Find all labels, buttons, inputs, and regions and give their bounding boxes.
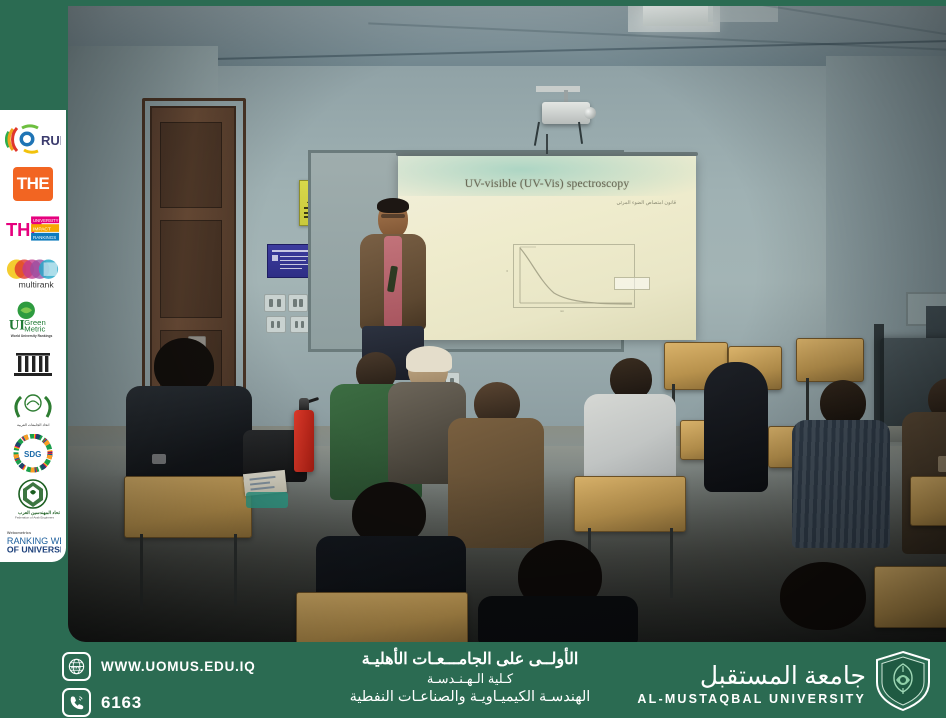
logo-rur-label: RUR xyxy=(41,133,61,148)
jacket-patch xyxy=(938,456,946,472)
logo-sdg: SDG xyxy=(5,433,61,476)
chair xyxy=(296,592,468,642)
student-body xyxy=(704,362,768,492)
student-seated xyxy=(902,394,946,554)
student-body xyxy=(478,596,638,642)
power-outlet xyxy=(288,294,308,312)
logo-the-impact: THE UNIVERSITY IMPACT RANKINGS xyxy=(5,208,61,251)
power-outlet xyxy=(264,294,286,312)
fire-extinguisher xyxy=(294,410,314,472)
university-text: جامعة المستقبل AL-MUSTAQBAL UNIVERSITY xyxy=(637,662,866,706)
projection-glow xyxy=(398,156,696,196)
logo-multirank: multirank xyxy=(5,253,61,296)
teal-box xyxy=(246,492,288,508)
headwear xyxy=(406,346,452,372)
slide-chart-ylabel: A xyxy=(505,270,509,272)
projector-lens xyxy=(584,107,596,119)
svg-text:RANKINGS: RANKINGS xyxy=(33,235,56,240)
arabic-line-1: الأولــى على الجامـــعـات الأهليـة xyxy=(300,650,640,670)
logo-unesco xyxy=(5,343,61,386)
logo-webometrics: Webometrics RANKING WEB OF UNIVERSITIES xyxy=(5,522,61,560)
ceiling-light xyxy=(643,6,713,26)
student-seated xyxy=(698,362,774,492)
logo-rur: RUR xyxy=(5,118,61,161)
svg-text:اتحاد الجامعات العربية: اتحاد الجامعات العربية xyxy=(17,422,49,427)
power-outlet xyxy=(290,316,310,333)
arabic-line-2: كـلية الـهـنـدسـة xyxy=(300,670,640,688)
chair-leg xyxy=(670,528,673,598)
svg-text:www: www xyxy=(70,664,82,669)
slide-chart-xlabel: nm xyxy=(560,309,564,313)
chair-leg xyxy=(140,534,143,610)
chair-leg xyxy=(234,534,237,606)
student-shirt xyxy=(792,420,890,548)
globe-www-icon: www xyxy=(62,652,91,681)
jacket-logo xyxy=(152,454,166,464)
student-foreground xyxy=(478,540,638,642)
presenter-hair xyxy=(377,198,409,213)
logo-ui-greenmetric: UI Green Metric World University Ranking… xyxy=(5,298,61,341)
slide-subtitle: قانون امتصاص الضوء المرئي xyxy=(398,200,696,206)
screen-hook xyxy=(546,134,548,154)
svg-text:Webometrics: Webometrics xyxy=(7,531,31,535)
svg-text:World University Rankings: World University Rankings xyxy=(11,334,53,338)
glasses-icon xyxy=(381,214,405,218)
projection-screen: UV-visible (UV-Vis) spectroscopy قانون ا… xyxy=(398,156,696,340)
slide-title: UV-visible (UV-Vis) spectroscopy xyxy=(408,178,686,190)
slide-chart-curve xyxy=(514,245,634,307)
power-outlet xyxy=(266,316,286,333)
projector-mount xyxy=(536,86,580,92)
chair xyxy=(574,476,686,532)
student-seated xyxy=(792,402,890,548)
arabic-slogan-block: الأولــى على الجامـــعـات الأهليـة كـلية… xyxy=(300,650,640,707)
website-label: WWW.UOMUS.EDU.IQ xyxy=(101,659,256,674)
logo-the: THE xyxy=(5,163,61,206)
arabic-line-3: الهندسـة الكيميـاويـة والصناعـات النفطية xyxy=(300,688,640,707)
svg-text:Federation of Arab Engineers: Federation of Arab Engineers xyxy=(15,515,55,519)
phone-icon xyxy=(62,688,91,717)
ranking-logos-panel: RUR THE THE UNIVERSITY IMPACT RANKINGS xyxy=(0,110,66,562)
svg-text:OF UNIVERSITIES: OF UNIVERSITIES xyxy=(7,545,61,555)
university-name-ar: جامعة المستقبل xyxy=(637,662,866,692)
chair xyxy=(874,566,946,628)
ceiling-projector xyxy=(542,102,590,124)
logo-sdg-label: SDG xyxy=(24,450,41,459)
chair xyxy=(910,476,946,526)
slide-chart-legend xyxy=(614,277,650,290)
student-head xyxy=(780,562,866,630)
svg-text:IMPACT: IMPACT xyxy=(33,227,51,233)
phone-label: 6163 xyxy=(101,693,142,713)
phone-row[interactable]: 6163 xyxy=(62,688,292,717)
svg-text:UNIVERSITY: UNIVERSITY xyxy=(33,219,59,224)
university-crest-icon xyxy=(874,650,932,717)
chair xyxy=(796,338,864,382)
logo-arab-engineers: اتحاد المهندسين العرب Federation of Arab… xyxy=(5,478,61,521)
logo-multirank-label: multirank xyxy=(19,280,55,290)
website-row[interactable]: www WWW.UOMUS.EDU.IQ xyxy=(62,652,292,681)
poster-root: UV-visible (UV-Vis) spectroscopy قانون ا… xyxy=(0,0,946,718)
chair xyxy=(124,476,252,538)
ceiling-tile xyxy=(708,6,778,22)
svg-text:Metric: Metric xyxy=(24,325,45,334)
slide-chart: A nm xyxy=(513,244,635,308)
bottom-banner: www WWW.UOMUS.EDU.IQ 6163 الأولــى على ا… xyxy=(0,642,946,718)
university-name-en: AL-MUSTAQBAL UNIVERSITY xyxy=(637,692,866,706)
logo-arab-union: اتحاد الجامعات العربية xyxy=(5,388,61,431)
lecture-hall-photo: UV-visible (UV-Vis) spectroscopy قانون ا… xyxy=(68,6,946,642)
logo-the-label: THE xyxy=(17,174,50,194)
svg-text:UI: UI xyxy=(9,318,25,334)
university-identity: جامعة المستقبل AL-MUSTAQBAL UNIVERSITY xyxy=(637,650,932,717)
contact-block: www WWW.UOMUS.EDU.IQ 6163 xyxy=(62,652,292,718)
